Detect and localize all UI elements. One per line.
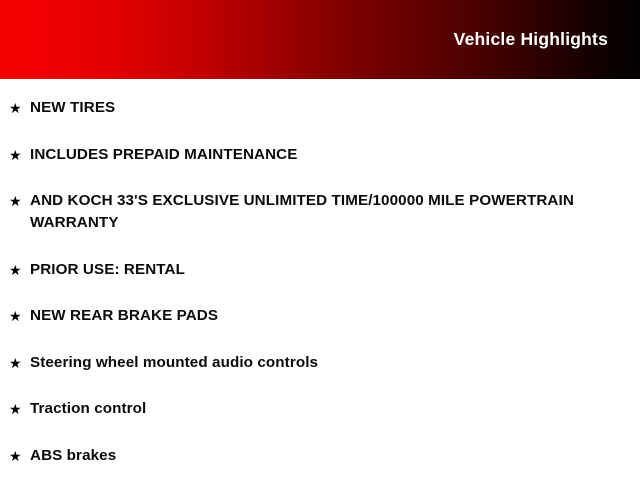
list-item: ★ NEW TIRES [0, 97, 640, 119]
header-banner: Vehicle Highlights [0, 0, 640, 79]
list-spacer [0, 281, 640, 306]
star-bullet-icon: ★ [9, 97, 25, 119]
list-item: ★ PRIOR USE: RENTAL [0, 259, 640, 281]
list-item-label: NEW TIRES [30, 97, 606, 119]
vehicle-highlights-page: Vehicle Highlights ★ NEW TIRES ★ INCLUDE… [0, 0, 640, 480]
list-item: ★ NEW REAR BRAKE PADS [0, 305, 640, 327]
list-spacer [0, 420, 640, 445]
list-item: ★ AND KOCH 33'S EXCLUSIVE UNLIMITED TIME… [0, 190, 640, 234]
star-bullet-icon: ★ [9, 144, 25, 166]
star-bullet-icon: ★ [9, 190, 25, 212]
list-item: ★ Steering wheel mounted audio controls [0, 352, 640, 374]
star-bullet-icon: ★ [9, 259, 25, 281]
list-item-label: AND KOCH 33'S EXCLUSIVE UNLIMITED TIME/1… [30, 190, 606, 234]
vehicle-highlights-list: ★ NEW TIRES ★ INCLUDES PREPAID MAINTENAN… [0, 79, 640, 467]
list-item-label: INCLUDES PREPAID MAINTENANCE [30, 144, 606, 166]
list-item-label: ABS brakes [30, 445, 606, 467]
list-item-label: Traction control [30, 398, 606, 420]
list-spacer [0, 327, 640, 352]
star-bullet-icon: ★ [9, 398, 25, 420]
list-item: ★ ABS brakes [0, 445, 640, 467]
star-bullet-icon: ★ [9, 445, 25, 467]
star-bullet-icon: ★ [9, 305, 25, 327]
star-bullet-icon: ★ [9, 352, 25, 374]
page-title: Vehicle Highlights [454, 29, 608, 50]
list-item-label: PRIOR USE: RENTAL [30, 259, 606, 281]
list-spacer [0, 119, 640, 144]
list-item: ★ INCLUDES PREPAID MAINTENANCE [0, 144, 640, 166]
list-spacer [0, 374, 640, 399]
list-item-label: NEW REAR BRAKE PADS [30, 305, 606, 327]
list-item-label: Steering wheel mounted audio controls [30, 352, 606, 374]
list-spacer [0, 166, 640, 191]
list-item: ★ Traction control [0, 398, 640, 420]
list-spacer [0, 234, 640, 259]
